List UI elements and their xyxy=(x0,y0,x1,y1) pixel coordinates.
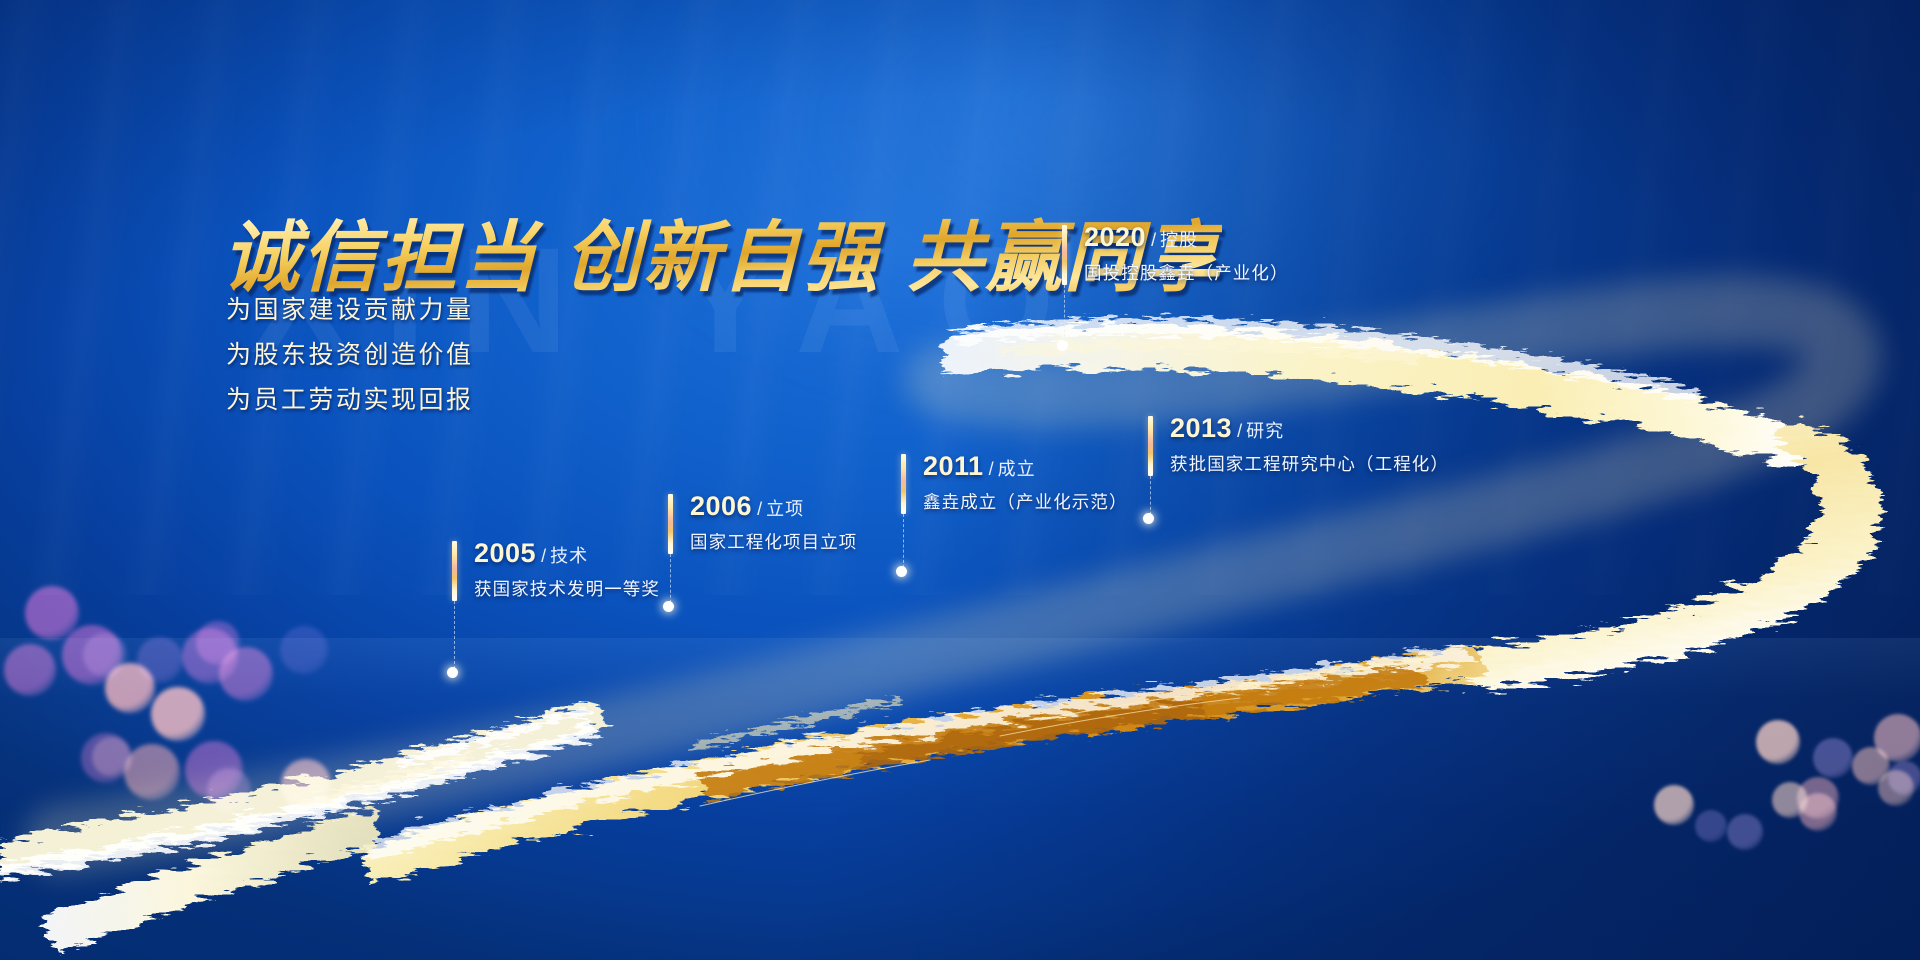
timeline-description: 鑫垚成立（产业化示范） xyxy=(923,489,1128,514)
timeline-year: 2020 xyxy=(1084,222,1146,252)
timeline-separator: / xyxy=(1151,230,1156,250)
timeline-node-dot[interactable] xyxy=(1057,340,1068,351)
timeline-leader-line xyxy=(903,514,904,573)
timeline-heading: 2011/成立 xyxy=(923,451,1128,482)
timeline-description: 获批国家工程研究中心（工程化） xyxy=(1170,451,1449,476)
timeline-node-dot[interactable] xyxy=(447,667,458,678)
timeline-separator: / xyxy=(1237,421,1242,441)
timeline-node-dot[interactable] xyxy=(663,601,674,612)
timeline-year: 2013 xyxy=(1170,413,1232,443)
timeline-tag: 控股 xyxy=(1160,230,1198,250)
poster-canvas: XIN YAO xyxy=(0,0,1920,960)
timeline-marker-bar xyxy=(1062,225,1067,285)
timeline-tag: 研究 xyxy=(1246,421,1284,441)
timeline-heading: 2020/控股 xyxy=(1084,222,1289,253)
timeline-tag: 立项 xyxy=(766,499,804,519)
timeline-heading: 2013/研究 xyxy=(1170,413,1449,444)
timeline-heading: 2005/技术 xyxy=(474,538,660,569)
timeline-description: 获国家技术发明一等奖 xyxy=(474,576,660,601)
timeline-leader-line xyxy=(454,601,455,674)
timeline-year: 2011 xyxy=(923,451,984,481)
timeline-separator: / xyxy=(989,459,994,479)
timeline-node-dot[interactable] xyxy=(1143,513,1154,524)
timeline-marker-bar xyxy=(668,494,673,554)
timeline-marker-bar xyxy=(1148,416,1153,476)
timeline-description: 国家工程化项目立项 xyxy=(690,529,857,554)
timeline-marker-bar xyxy=(901,454,906,514)
timeline-tag: 技术 xyxy=(550,546,588,566)
timeline-text-block: 2020/控股国投控股鑫垚（产业化） xyxy=(1084,222,1289,285)
timeline-text-block: 2006/立项国家工程化项目立项 xyxy=(690,491,857,554)
timeline-heading: 2006/立项 xyxy=(690,491,857,522)
timeline-description: 国投控股鑫垚（产业化） xyxy=(1084,260,1289,285)
subtitle-line-1: 为国家建设贡献力量 xyxy=(226,290,474,326)
title-part-2: 创新自强 xyxy=(564,213,880,303)
timeline-year: 2005 xyxy=(474,538,536,568)
timeline-text-block: 2011/成立鑫垚成立（产业化示范） xyxy=(923,451,1128,514)
timeline-leader-line xyxy=(670,554,671,608)
timeline-year: 2006 xyxy=(690,491,752,521)
timeline-leader-line xyxy=(1064,285,1065,347)
timeline-marker-bar xyxy=(452,541,457,601)
timeline-node-dot[interactable] xyxy=(896,566,907,577)
timeline-text-block: 2013/研究获批国家工程研究中心（工程化） xyxy=(1170,413,1449,476)
subtitle-line-3: 为员工劳动实现回报 xyxy=(226,380,474,416)
timeline-tag: 成立 xyxy=(998,459,1036,479)
timeline-separator: / xyxy=(757,499,762,519)
timeline-separator: / xyxy=(541,546,546,566)
timeline-text-block: 2005/技术获国家技术发明一等奖 xyxy=(474,538,660,601)
subtitle-line-2: 为股东投资创造价值 xyxy=(226,335,474,371)
